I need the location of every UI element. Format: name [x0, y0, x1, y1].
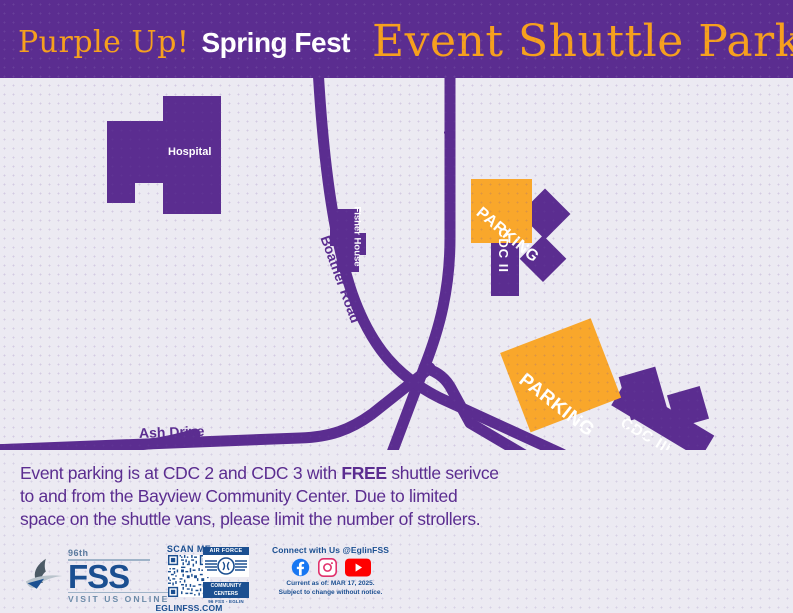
building-fisher-house-main [337, 209, 359, 272]
afcc-logo: AIR FORCE COMMUNITY CENTERS 96 FSS - EGL… [203, 547, 249, 604]
youtube-icon[interactable] [345, 558, 371, 577]
fss-flame-icon [22, 556, 66, 596]
social-block: Connect with Us @EglinFSS Current as of:… [258, 545, 403, 598]
building-fisher-house-wing-e [358, 233, 366, 255]
purple-up-label: Purple Up! [18, 28, 189, 58]
validity-note-line-2: Subject to change without notice. [258, 589, 403, 598]
parking-lot-north [471, 179, 532, 243]
afcc-bottom-label-2: CENTERS [203, 590, 249, 598]
building-hospital-block-a [163, 96, 221, 152]
info-line-1b: shuttle serivce [387, 463, 499, 483]
header-title-row: Purple Up! Spring Fest Event Shuttle Par… [18, 16, 793, 60]
page-title: Event Shuttle Parking Map [372, 20, 793, 64]
instagram-icon[interactable] [318, 558, 337, 577]
shuttle-info-text: Event parking is at CDC 2 and CDC 3 with… [20, 462, 540, 531]
parking-map-poster: Purple Up! Spring Fest Event Shuttle Par… [0, 0, 793, 613]
poster-header: Purple Up! Spring Fest Event Shuttle Par… [0, 0, 793, 78]
poster-footer: 96th FSS VISIT US ONLINE SCAN ME [0, 540, 793, 613]
info-line-1a: Event parking is at CDC 2 and CDC 3 with [20, 463, 341, 483]
building-hospital-block-b [163, 152, 221, 214]
fss-logo: 96th FSS VISIT US ONLINE [22, 548, 169, 604]
spring-fest-label: Spring Fest [201, 29, 350, 57]
afcc-bottom-label-1: COMMUNITY [203, 582, 249, 590]
social-title-label: Connect with Us @EglinFSS [258, 545, 403, 555]
qr-url-label: EGLINFSS.COM [150, 603, 228, 613]
info-free-emphasis: FREE [341, 463, 386, 483]
info-line-2: to and from the Bayview Community Center… [20, 486, 457, 506]
afcc-top-label: AIR FORCE [203, 547, 249, 555]
validity-note-line-1: Current as of: MAR 17, 2025. [258, 580, 403, 589]
building-hospital-wing-notch [107, 183, 135, 203]
afcc-emblem-icon [203, 555, 249, 577]
afcc-unit-label: 96 FSS - EGLIN [203, 599, 249, 604]
info-line-3: space on the shuttle vans, please limit … [20, 509, 480, 529]
building-fisher-house-wing-w [330, 226, 338, 246]
facebook-icon[interactable] [291, 558, 310, 577]
building-hospital-connector [150, 126, 166, 158]
social-icon-row [258, 558, 403, 577]
